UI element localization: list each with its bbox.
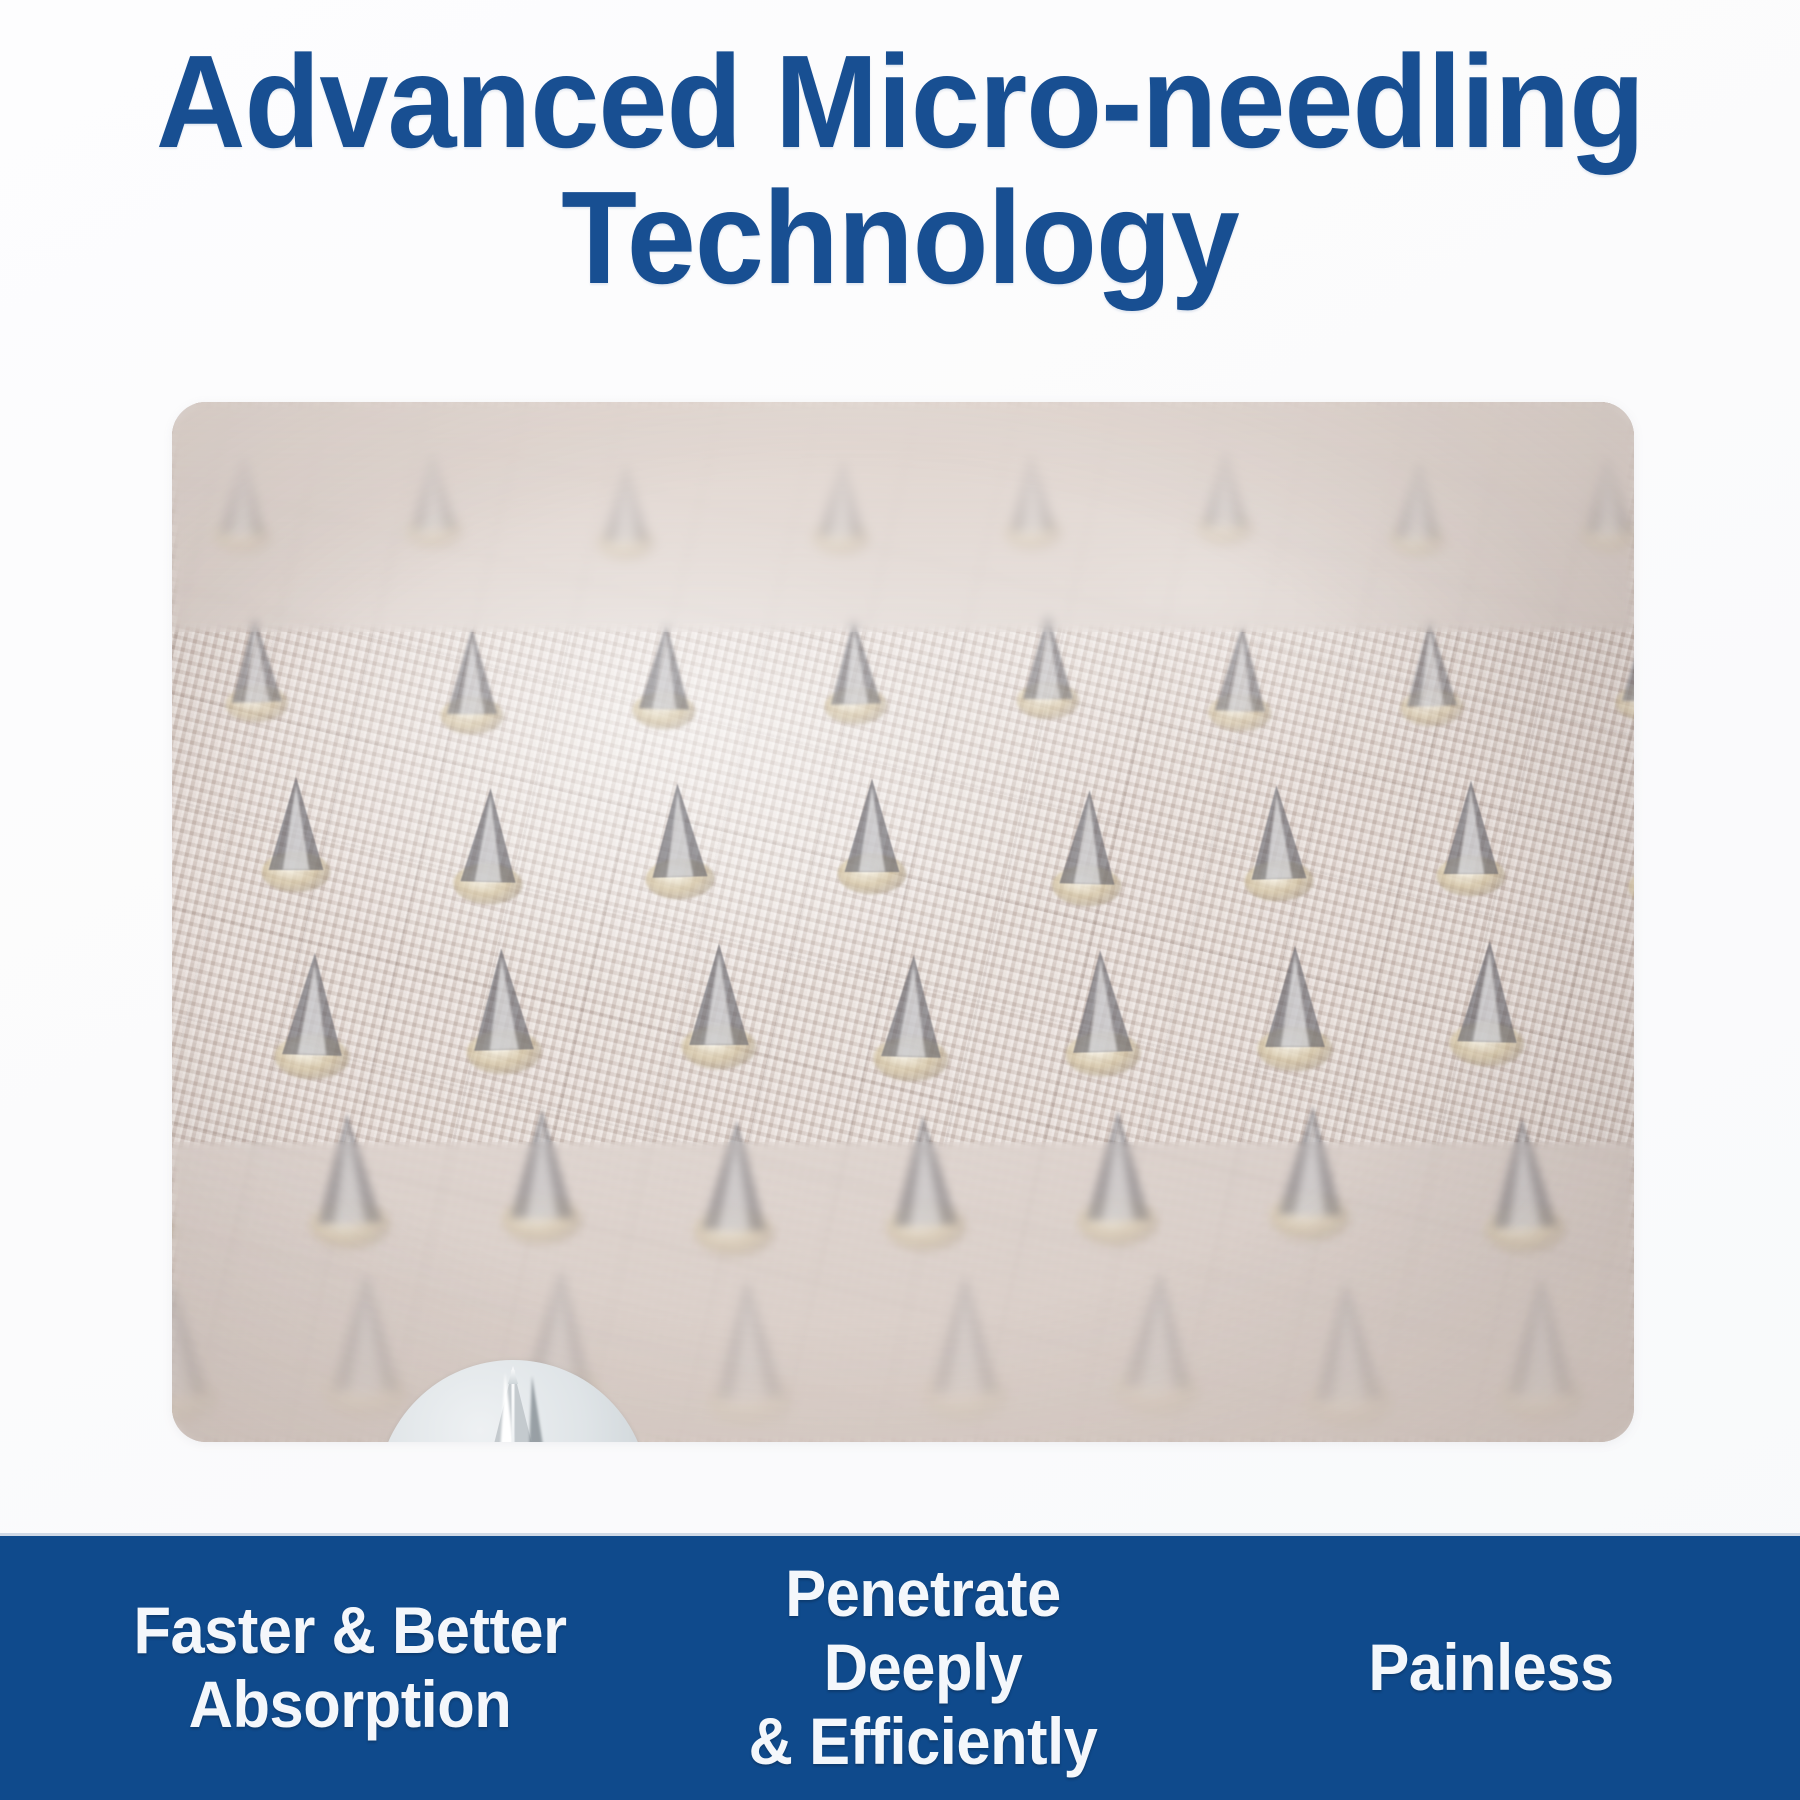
page-title: Advanced Micro-needling Technology	[54, 34, 1746, 306]
benefits-banner: Faster & Better Absorption Penetrate Dee…	[0, 1533, 1800, 1800]
benefit-painless: Painless	[1272, 1631, 1709, 1705]
benefit-penetrate-deeply: Penetrate Deeply & Efficiently	[681, 1557, 1165, 1779]
benefit-faster-absorption: Faster & Better Absorption	[127, 1594, 573, 1742]
photo-vignette	[172, 402, 1634, 1442]
hero-image-card	[172, 402, 1634, 1442]
promo-infographic: Advanced Micro-needling Technology Faste…	[0, 0, 1800, 1800]
